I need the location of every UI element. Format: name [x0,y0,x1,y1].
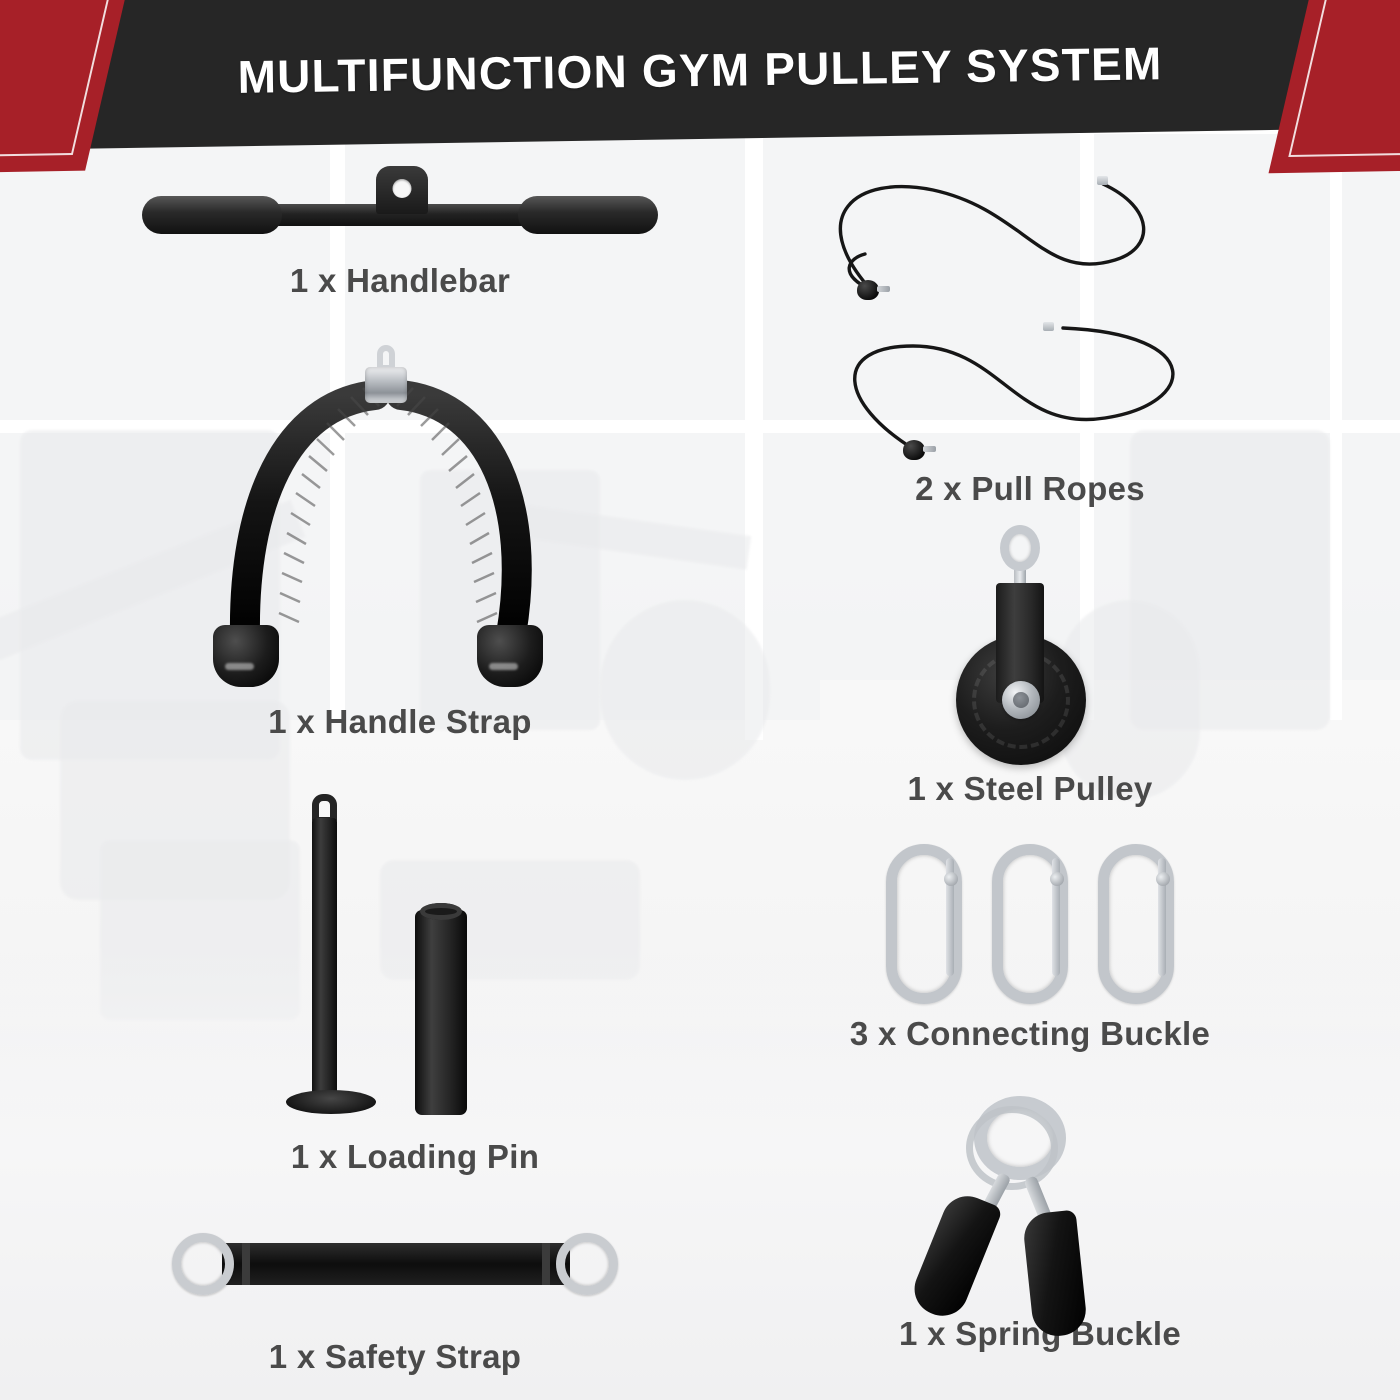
product-spring-buckle [900,1090,1130,1340]
cable-tip-bottom [1043,322,1054,331]
product-pull-ropes [815,150,1245,540]
product-handlebar [130,160,670,320]
d-ring-right [556,1233,618,1295]
cable-end-fitting-top [857,280,879,300]
pin-sleeve-icon [415,910,467,1115]
cable-end-fitting-bottom [903,440,925,460]
page-title: MULTIFUNCTION GYM PULLEY SYSTEM [0,0,1400,150]
straight-bar-icon [130,160,670,270]
rope-clamp-icon [365,345,407,411]
product-loading-pin [290,790,520,1190]
spring-handle-left [907,1188,1004,1323]
pulley-center-nut [1002,681,1040,719]
rope-end-cap-left [213,625,279,687]
product-steel-pulley [940,525,1140,845]
eye-bolt-icon [1000,525,1040,571]
product-infographic: MULTIFUNCTION GYM PULLEY SYSTEM 1 x Hand… [0,0,1400,1400]
product-handle-strap [205,325,595,775]
spring-handle-right [1022,1210,1089,1339]
carabiner-icon-1 [886,844,962,1004]
product-safety-strap [150,1215,640,1385]
product-connecting-buckles [880,840,1180,1070]
d-ring-left [172,1233,234,1295]
steel-cable-icon [815,150,1245,540]
header-banner: MULTIFUNCTION GYM PULLEY SYSTEM [0,0,1400,150]
cable-tip-top [1097,176,1108,185]
rope-end-cap-right [477,625,543,687]
carabiner-icon-3 [1098,844,1174,1004]
carabiner-icon-2 [992,844,1068,1004]
